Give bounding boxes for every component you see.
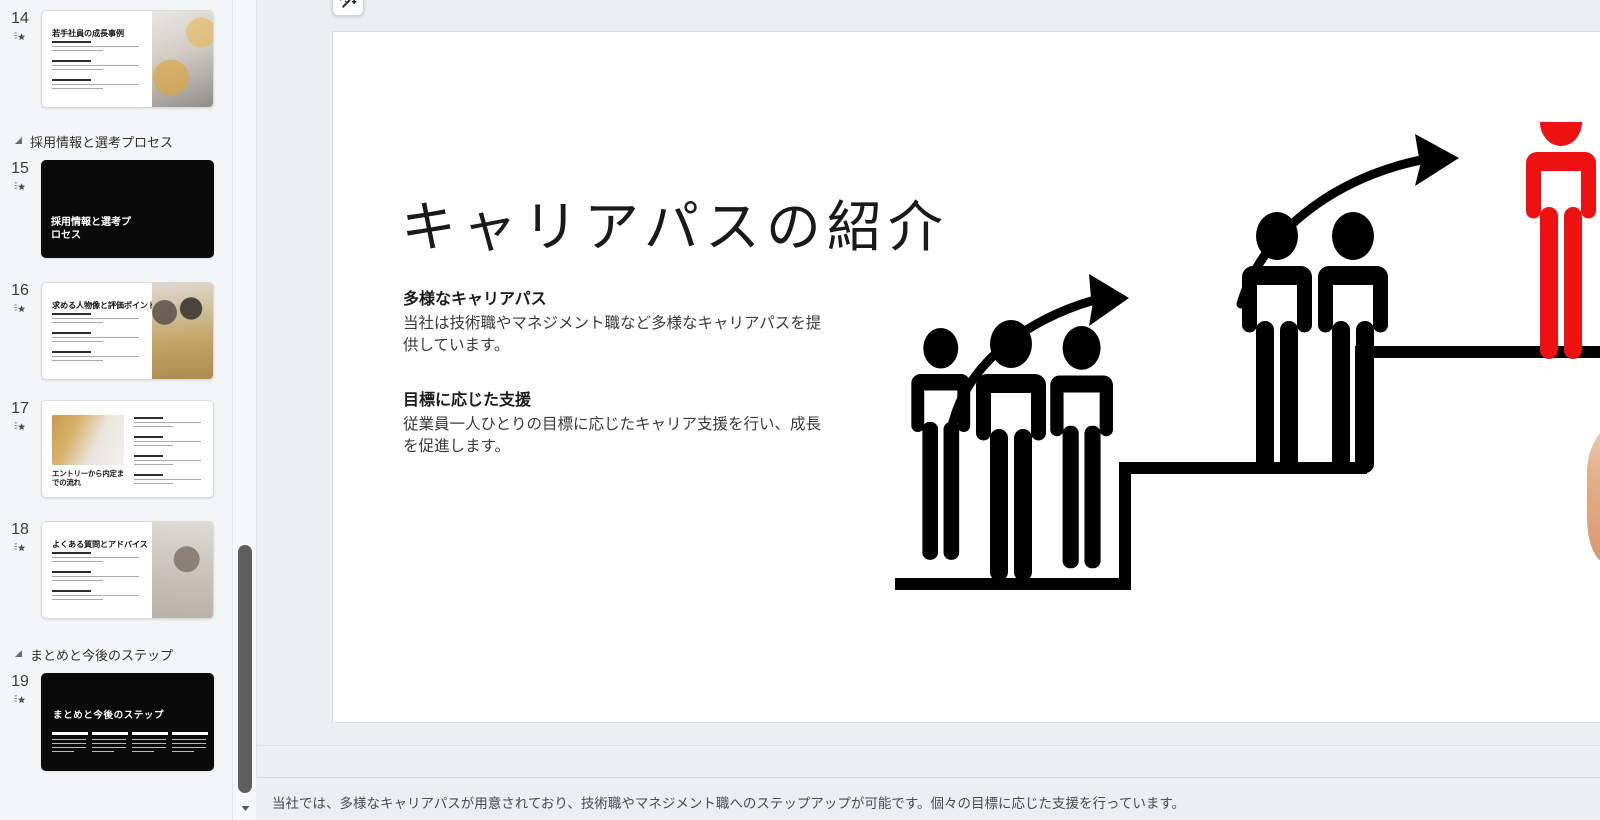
slide-thumbnail-preview[interactable]: 若手社員の成長事例 — [41, 10, 214, 108]
slide-thumbnail-pane[interactable]: 14若手社員の成長事例採用情報と選考プロセス15採用情報と選考プ ロセス16求め… — [0, 0, 232, 820]
editor-left-border — [256, 0, 257, 820]
slide-number: 14 — [4, 10, 36, 28]
block-heading: 目標に応じた支援 — [403, 386, 833, 410]
mini-slide-title: 採用情報と選考プ ロセス — [51, 216, 201, 242]
mini-slide-photo — [52, 415, 124, 465]
mini-slide-title: エントリーから内定ま での流れ — [52, 469, 126, 487]
slide-number: 18 — [4, 521, 36, 539]
mini-slide-title: よくある質問とアドバイス — [52, 538, 148, 550]
figure-highlighted-level-3 — [1526, 122, 1596, 359]
section-label: まとめと今後のステップ — [30, 645, 173, 664]
slide-thumbnail-preview[interactable]: よくある質問とアドバイス — [41, 521, 214, 619]
block-heading: 多様なキャリアパス — [403, 285, 833, 309]
section-collapse-icon[interactable] — [12, 134, 24, 146]
mini-slide-photo — [152, 522, 214, 619]
scroll-down-arrow-icon[interactable] — [233, 796, 257, 820]
slide-number: 15 — [4, 160, 36, 178]
speaker-notes-text[interactable]: 当社では、多様なキャリアパスが用意されており、技術職やマネジメント職へのステップ… — [272, 792, 1584, 812]
animation-star-icon — [4, 541, 36, 556]
slide-number: 17 — [4, 400, 36, 418]
slide-thumbnail-preview[interactable]: エントリーから内定ま での流れ — [41, 400, 214, 498]
slide-body-block-1: 多様なキャリアパス 当社は技術職やマネジメント職など多様なキャリアパスを提供して… — [403, 285, 833, 358]
mini-slide-photo — [152, 283, 214, 380]
slide-number: 19 — [4, 673, 36, 691]
notes-pane-top-edge — [256, 745, 1600, 746]
slide-thumbnail-preview[interactable]: まとめと今後のステップ — [41, 673, 214, 771]
designer-button[interactable] — [332, 0, 364, 16]
slide-thumbnail-preview[interactable]: 求める人物像と評価ポイント — [41, 282, 214, 380]
arrow-head-2 — [1415, 134, 1459, 186]
magic-wand-plus-icon — [339, 0, 357, 9]
arrow-head-1 — [1089, 274, 1129, 326]
section-collapse-icon[interactable] — [12, 647, 24, 659]
career-staircase-illustration — [893, 122, 1600, 622]
animation-star-icon — [4, 693, 36, 708]
mini-slide-title: まとめと今後のステップ — [53, 707, 164, 721]
section-label: 採用情報と選考プロセス — [30, 132, 173, 151]
animation-star-icon — [4, 420, 36, 435]
animation-star-icon — [4, 180, 36, 195]
slide-title: キャリアパスの紹介 — [401, 182, 949, 262]
slide-editor-area: キャリアパスの紹介 多様なキャリアパス 当社は技術職やマネジメント職など多様なキ… — [256, 0, 1600, 820]
block-text: 従業員一人ひとりの目標に応じたキャリア支援を行い、成長を促進します。 — [403, 414, 833, 459]
slide-body-block-2: 目標に応じた支援 従業員一人ひとりの目標に応じたキャリア支援を行い、成長を促進し… — [403, 386, 833, 459]
mini-slide-photo — [152, 11, 214, 108]
animation-star-icon — [4, 302, 36, 317]
speaker-notes-pane[interactable]: 当社では、多様なキャリアパスが用意されており、技術職やマネジメント職へのステップ… — [256, 778, 1600, 820]
slide-canvas[interactable]: キャリアパスの紹介 多様なキャリアパス 当社は技術職やマネジメント職など多様なキ… — [332, 31, 1600, 723]
scrollbar-thumb[interactable] — [238, 545, 252, 793]
slide-thumbnail-preview[interactable]: 採用情報と選考プ ロセス — [41, 160, 214, 258]
figure-group-level-1 — [911, 320, 1113, 581]
block-text: 当社は技術職やマネジメント職など多様なキャリアパスを提供しています。 — [403, 313, 833, 358]
mini-slide-title: 若手社員の成長事例 — [52, 27, 124, 39]
presentation-editor-window: 14若手社員の成長事例採用情報と選考プロセス15採用情報と選考プ ロセス16求め… — [0, 0, 1600, 820]
thumbnail-pane-scrollbar[interactable] — [232, 0, 256, 820]
animation-star-icon — [4, 30, 36, 45]
slide-number: 16 — [4, 282, 36, 300]
mini-slide-title: 求める人物像と評価ポイント — [52, 299, 156, 311]
